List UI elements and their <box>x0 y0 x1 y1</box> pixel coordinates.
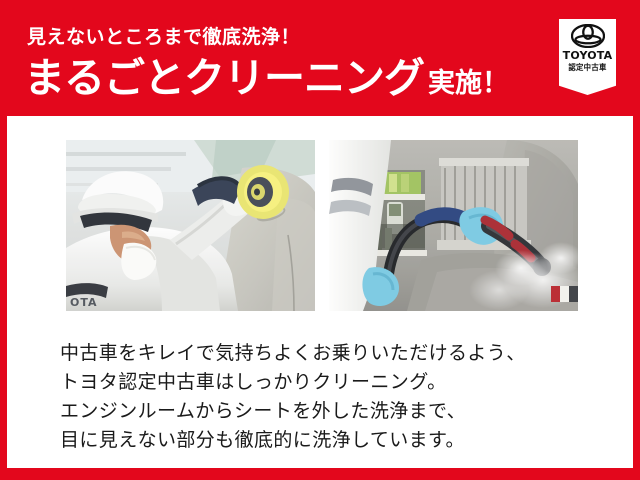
photo-polishing: OTA <box>66 140 315 311</box>
photo-steam-cleaning <box>329 140 578 311</box>
header-band: 見えないところまで徹底洗浄！ まるごとクリーニング 実施！ TOYOTA 認定中… <box>0 0 640 114</box>
photo-polishing-image: OTA <box>66 140 315 311</box>
photo-row: OTA <box>66 140 578 311</box>
toyota-certified-logo: TOYOTA 認定中古車 <box>559 19 616 95</box>
subheadline: 見えないところまで徹底洗浄！ <box>27 28 300 47</box>
body-line: トヨタ認定中古車はしっかりクリーニング。 <box>60 368 600 397</box>
headline-main-text: まるごとクリーニング <box>24 58 424 99</box>
toyota-wordmark: TOYOTA <box>559 50 616 61</box>
headline-suffix-text: 実施！ <box>424 70 509 99</box>
toyota-emblem-icon <box>571 24 605 48</box>
logo-swoosh-shape <box>559 79 616 95</box>
logo-inner: TOYOTA 認定中古車 <box>559 19 616 95</box>
certified-used-car-label: 認定中古車 <box>561 64 613 72</box>
body-line: 目に見えない部分も徹底的に洗浄しています。 <box>60 426 600 455</box>
headline: まるごとクリーニング 実施！ <box>24 58 509 99</box>
body-line: エンジンルームからシートを外した洗浄まで、 <box>60 397 600 426</box>
body-line: 中古車をキレイで気持ちよくお乗りいただけるよう、 <box>60 339 600 368</box>
body-copy: 中古車をキレイで気持ちよくお乗りいただけるよう、 トヨタ認定中古車はしっかりクリ… <box>60 339 600 455</box>
promo-banner: 見えないところまで徹底洗浄！ まるごとクリーニング 実施！ TOYOTA 認定中… <box>0 0 640 480</box>
content-panel: OTA <box>7 116 633 468</box>
photo-steam-cleaning-image <box>329 140 578 311</box>
